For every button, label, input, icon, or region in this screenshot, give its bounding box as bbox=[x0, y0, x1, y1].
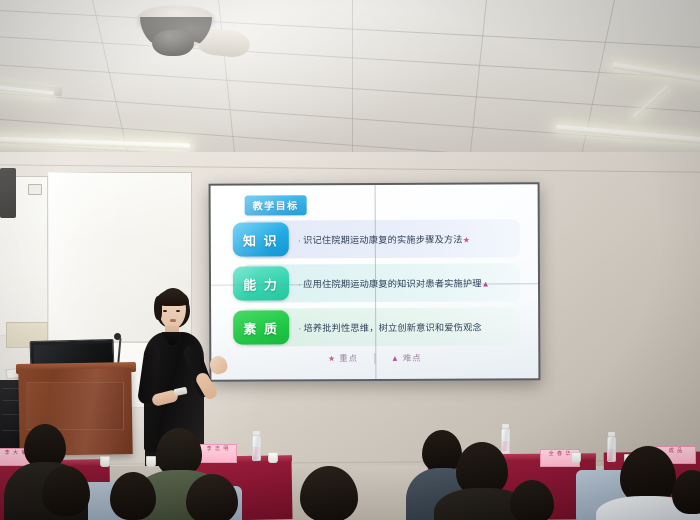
objective-row-knowledge: 知 识 ·识记住院期运动康复的实施步骤及方法★ bbox=[241, 219, 520, 258]
display-screen[interactable]: 教学目标 知 识 ·识记住院期运动康复的实施步骤及方法★ 能 力 ·应用住院期运… bbox=[211, 184, 539, 379]
slide-header-tag: 教学目标 bbox=[245, 195, 307, 215]
presenter-hand-right bbox=[208, 354, 230, 376]
badge-knowledge: 知 识 bbox=[233, 222, 289, 256]
cup-1 bbox=[100, 456, 110, 467]
objective-text-knowledge: ·识记住院期运动康复的实施步骤及方法★ bbox=[289, 231, 520, 246]
attendee-head-6 bbox=[42, 466, 90, 516]
marker-star-1: ★ bbox=[463, 236, 470, 245]
objective-body-1: 识记住院期运动康复的实施步骤及方法 bbox=[303, 235, 463, 246]
legend-key-point: ★ 重点 bbox=[328, 352, 358, 364]
podium-front-panel bbox=[26, 382, 124, 430]
legend-difficult-point: ▲ 难点 bbox=[391, 352, 422, 364]
cup-2 bbox=[268, 452, 278, 463]
wall-speaker-icon bbox=[0, 168, 16, 218]
bottle-2 bbox=[252, 435, 261, 461]
presenter-eye-right bbox=[176, 310, 180, 312]
presenter-mouth bbox=[170, 319, 176, 322]
legend-difficult-point-label: 难点 bbox=[403, 352, 422, 364]
presenter-eye-left bbox=[163, 310, 167, 312]
bullet-dot-3: · bbox=[298, 323, 301, 333]
presentation-display[interactable]: 教学目标 知 识 ·识记住院期运动康复的实施步骤及方法★ 能 力 ·应用住院期运… bbox=[209, 182, 541, 381]
legend-triangle-icon: ▲ bbox=[391, 353, 400, 362]
wall-plate bbox=[28, 184, 42, 195]
camera-lens-icon bbox=[152, 30, 194, 56]
bottle-3 bbox=[501, 428, 510, 454]
bottle-4-cap bbox=[608, 432, 615, 436]
fluorescent-tube-diagonal bbox=[633, 85, 669, 118]
legend-key-point-label: 重点 bbox=[339, 352, 358, 364]
namecard-2: 李 志 明 bbox=[199, 444, 237, 463]
attendee-head-7 bbox=[156, 428, 202, 476]
bottle-4 bbox=[607, 436, 616, 462]
bullet-dot-1: · bbox=[298, 235, 301, 245]
objective-body-3: 培养批判性思维，树立创新意识和爱伤观念 bbox=[303, 323, 481, 334]
legend-star-icon: ★ bbox=[328, 354, 336, 363]
fluorescent-tube-lower-left bbox=[0, 137, 190, 150]
cup-4 bbox=[571, 452, 581, 463]
classroom-photo: 教学目标 知 识 ·识记住院期运动康复的实施步骤及方法★ 能 力 ·应用住院期运… bbox=[0, 0, 700, 520]
bottle-3-cap bbox=[502, 424, 509, 428]
bottle-2-cap bbox=[253, 431, 260, 435]
attendee-head-8 bbox=[110, 472, 156, 520]
ceiling bbox=[0, 0, 700, 172]
presenter-hair-front bbox=[156, 290, 189, 306]
objective-row-quality: 素 质 ·培养批判性思维，树立创新意识和爱伤观念 bbox=[241, 307, 520, 346]
namecard-2-text: 李 志 明 bbox=[200, 445, 236, 453]
objective-text-quality: ·培养批判性思维，树立创新意识和爱伤观念 bbox=[289, 319, 520, 334]
badge-quality: 素 质 bbox=[233, 310, 289, 344]
cup-3 bbox=[146, 456, 156, 467]
